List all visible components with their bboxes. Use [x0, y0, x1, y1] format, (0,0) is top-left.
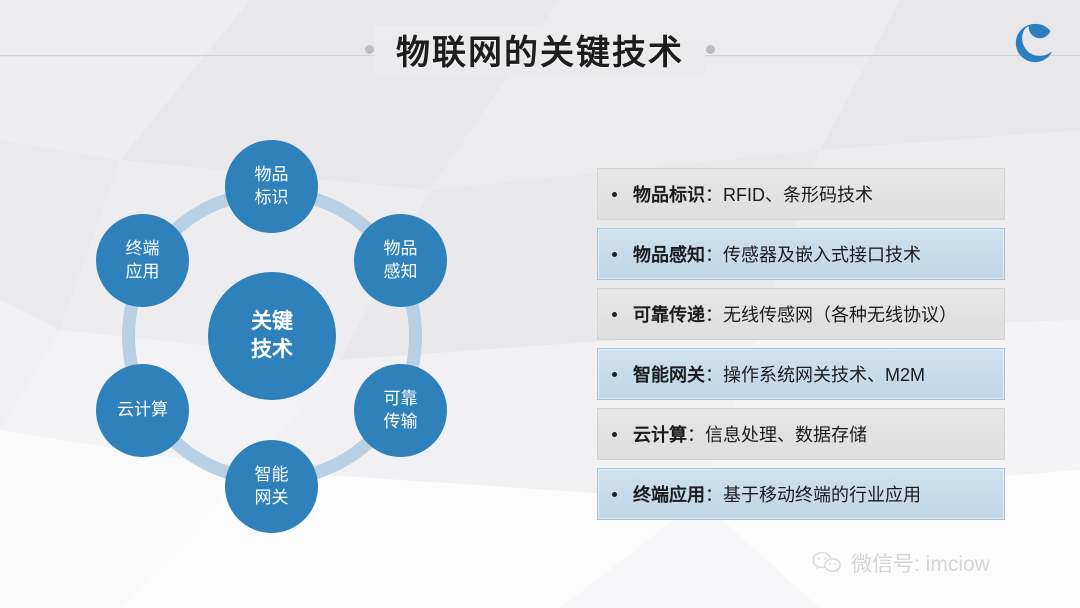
- list-item[interactable]: 物品感知：传感器及嵌入式接口技术: [597, 228, 1005, 280]
- node-label-line2: 应用: [126, 261, 160, 284]
- list-item[interactable]: 可靠传递：无线传感网（各种无线协议）: [597, 288, 1005, 340]
- title-decor-dot-left-icon: [365, 45, 374, 54]
- diagram-node-cloud-computing[interactable]: 云计算: [96, 364, 189, 457]
- bullet-icon: [612, 492, 617, 497]
- list-item-key: 物品标识: [633, 185, 705, 205]
- list-item-text: 云计算：信息处理、数据存储: [633, 421, 867, 447]
- list-item-sep: ：: [705, 485, 723, 505]
- watermark-text: 微信号: imciow: [851, 548, 990, 578]
- node-label-line2: 感知: [384, 261, 418, 284]
- watermark: 微信号: imciow: [812, 548, 990, 578]
- bullet-icon: [612, 312, 617, 317]
- page-title: 物联网的关键技术: [374, 25, 706, 74]
- bullet-icon: [612, 432, 617, 437]
- list-item-value: 信息处理、数据存储: [705, 425, 867, 445]
- list-item-value: 无线传感网（各种无线协议）: [723, 305, 957, 325]
- node-label-line2: 标识: [255, 187, 289, 210]
- list-item-text: 终端应用：基于移动终端的行业应用: [633, 481, 921, 507]
- list-item[interactable]: 智能网关：操作系统网关技术、M2M: [597, 348, 1005, 400]
- list-item-key: 智能网关: [633, 365, 705, 385]
- list-item[interactable]: 物品标识：RFID、条形码技术: [597, 168, 1005, 220]
- diagram-node-item-sensing[interactable]: 物品 感知: [354, 214, 447, 307]
- node-label-line2: 网关: [255, 487, 289, 510]
- list-item-sep: ：: [705, 245, 723, 265]
- diagram-node-terminal-application[interactable]: 终端 应用: [96, 214, 189, 307]
- list-item-value: RFID、条形码技术: [723, 185, 873, 205]
- node-label-line1: 智能: [255, 464, 289, 487]
- list-item-key: 终端应用: [633, 485, 705, 505]
- brand-c-logo-icon: [1012, 20, 1058, 66]
- diagram-node-smart-gateway[interactable]: 智能 网关: [225, 440, 318, 533]
- diagram-node-reliable-transport[interactable]: 可靠 传输: [354, 364, 447, 457]
- list-item-value: 操作系统网关技术、M2M: [723, 365, 925, 385]
- list-item-sep: ：: [687, 425, 705, 445]
- diagram-node-item-identification[interactable]: 物品 标识: [225, 140, 318, 233]
- node-label-line1: 可靠: [384, 388, 418, 411]
- node-label-line2: 传输: [384, 411, 418, 434]
- key-technology-diagram: 物品 标识 物品 感知 可靠 传输 智能 网关 云计算 终端 应用 关键 技术: [62, 118, 492, 558]
- list-item-sep: ：: [705, 185, 723, 205]
- list-item-text: 可靠传递：无线传感网（各种无线协议）: [633, 301, 957, 327]
- list-item-text: 物品感知：传感器及嵌入式接口技术: [633, 241, 921, 267]
- slide-title-group: 物联网的关键技术: [0, 18, 1080, 80]
- list-item-value: 基于移动终端的行业应用: [723, 485, 921, 505]
- bullet-icon: [612, 372, 617, 377]
- list-item-sep: ：: [705, 365, 723, 385]
- bullet-icon: [612, 192, 617, 197]
- slide-canvas: 物联网的关键技术 物品 标识 物品 感知 可靠 传输 智能 网关 云计算 终端: [0, 0, 1080, 608]
- node-label-line1: 云计算: [117, 399, 168, 422]
- list-item-key: 可靠传递: [633, 305, 705, 325]
- key-technology-list: 物品标识：RFID、条形码技术 物品感知：传感器及嵌入式接口技术 可靠传递：无线…: [597, 168, 1005, 528]
- list-item[interactable]: 终端应用：基于移动终端的行业应用: [597, 468, 1005, 520]
- list-item-key: 云计算: [633, 425, 687, 445]
- wechat-icon: [812, 551, 842, 575]
- node-label-line1: 物品: [384, 238, 418, 261]
- node-label-line1: 终端: [126, 238, 160, 261]
- center-label-line2: 技术: [251, 336, 293, 364]
- list-item[interactable]: 云计算：信息处理、数据存储: [597, 408, 1005, 460]
- list-item-key: 物品感知: [633, 245, 705, 265]
- diagram-node-center-key-technology[interactable]: 关键 技术: [208, 272, 336, 400]
- bullet-icon: [612, 252, 617, 257]
- center-label-line1: 关键: [251, 308, 293, 336]
- title-decor-dot-right-icon: [706, 45, 715, 54]
- node-label-line1: 物品: [255, 164, 289, 187]
- list-item-text: 物品标识：RFID、条形码技术: [633, 181, 873, 207]
- list-item-value: 传感器及嵌入式接口技术: [723, 245, 921, 265]
- list-item-text: 智能网关：操作系统网关技术、M2M: [633, 361, 925, 387]
- list-item-sep: ：: [705, 305, 723, 325]
